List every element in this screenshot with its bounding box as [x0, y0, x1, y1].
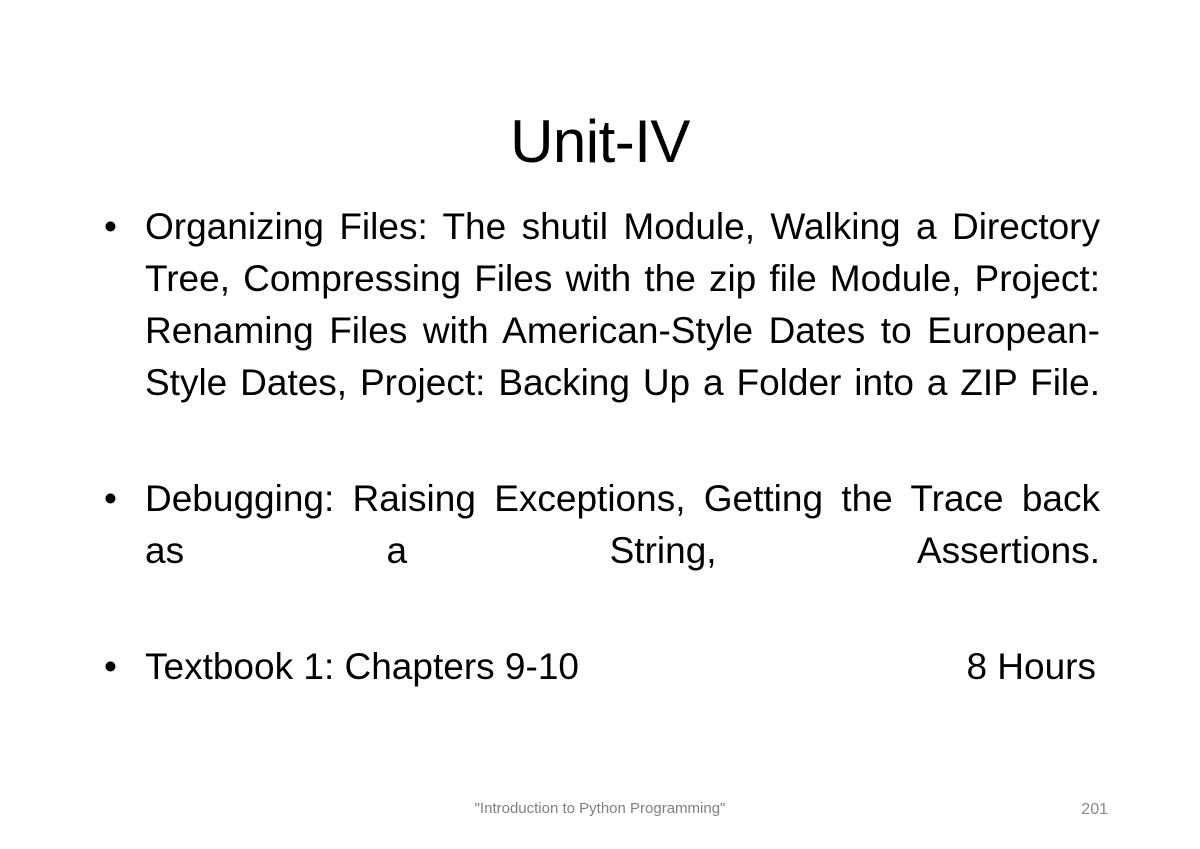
textbook-hours-row: Textbook 1: Chapters 9-10 8 Hours — [145, 641, 1100, 693]
bullet-text-textbook: Textbook 1: Chapters 9-10 8 Hours — [145, 641, 1100, 693]
slide-canvas: Unit-IV • Organizing Files: The shutil M… — [0, 0, 1200, 849]
bullet-marker-icon: • — [100, 473, 145, 525]
bullet-list: • Organizing Files: The shutil Module, W… — [100, 201, 1100, 693]
list-item: • Organizing Files: The shutil Module, W… — [100, 201, 1100, 461]
bullet-text-debugging: Debugging: Raising Exceptions, Getting t… — [145, 473, 1100, 629]
page-title: Unit-IV — [0, 108, 1200, 175]
list-item: • Debugging: Raising Exceptions, Getting… — [100, 473, 1100, 629]
page-number: 201 — [1081, 800, 1108, 820]
footer-source-note: "Introduction to Python Programming" — [0, 799, 1200, 819]
bullet-text-organizing-files: Organizing Files: The shutil Module, Wal… — [145, 201, 1100, 461]
bullet-marker-icon: • — [100, 201, 145, 253]
list-item: • Textbook 1: Chapters 9-10 8 Hours — [100, 641, 1100, 693]
duration-hours-label: 8 Hours — [966, 641, 1100, 693]
textbook-reference-label: Textbook 1: Chapters 9-10 — [145, 641, 579, 693]
bullet-marker-icon: • — [100, 641, 145, 693]
